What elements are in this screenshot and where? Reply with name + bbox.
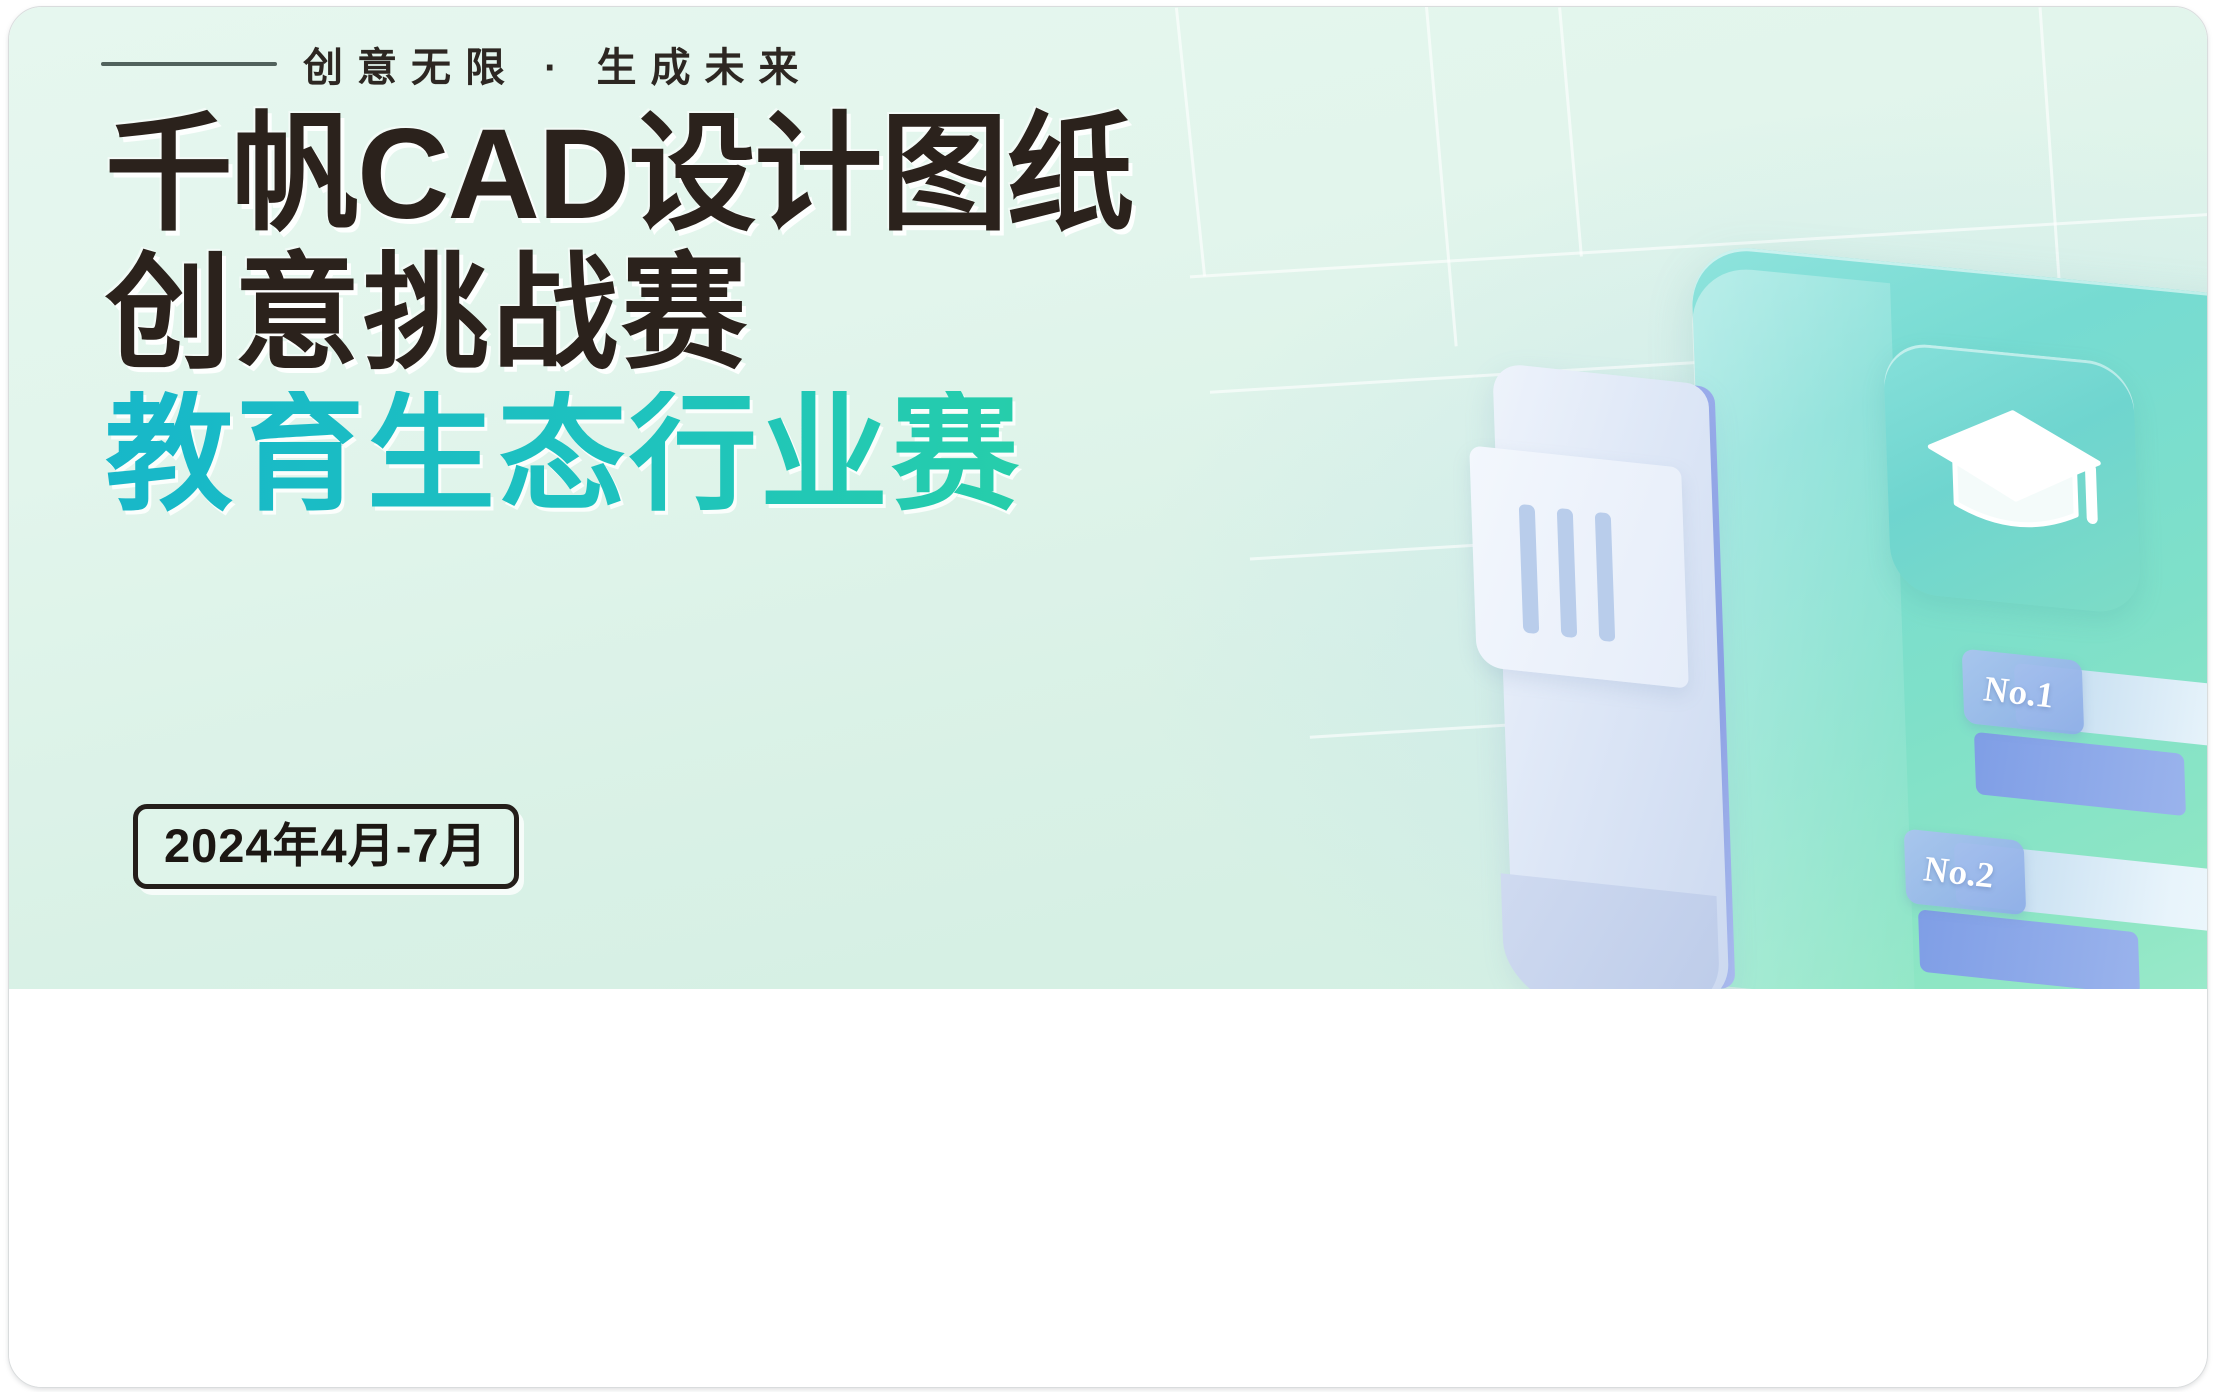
headline-line-1: 千帆CAD设计图纸 <box>105 111 1605 239</box>
tagline: 创意无限 · 生成未来 <box>101 35 1191 93</box>
graduation-cap-icon <box>1923 396 2108 554</box>
blueprint-sheet <box>1469 445 1689 688</box>
hero-banner[interactable]: 创意无限 · 生成未来 千帆CAD设计图纸 创意挑战赛 教育生态行业赛 2024… <box>9 7 2207 989</box>
tagline-text: 创意无限 · 生成未来 <box>303 35 813 93</box>
content-area <box>9 989 2207 1387</box>
headline-line-3: 教育生态行业赛 <box>105 391 1605 519</box>
date-badge-label: 2024年4月-7月 <box>164 822 488 869</box>
rank-label-2: No.2 <box>1922 847 1994 897</box>
date-badge: 2024年4月-7月 <box>133 804 519 889</box>
rank-label-1: No.1 <box>1982 667 2054 717</box>
hero-illustration: No.1 No.2 <box>1467 257 2207 989</box>
page-card: 创意无限 · 生成未来 千帆CAD设计图纸 创意挑战赛 教育生态行业赛 2024… <box>8 6 2208 1388</box>
headline-line-2: 创意挑战赛 <box>105 251 1605 377</box>
headline-block: 千帆CAD设计图纸 创意挑战赛 教育生态行业赛 <box>105 111 1605 519</box>
tagline-rule-left <box>101 62 277 66</box>
